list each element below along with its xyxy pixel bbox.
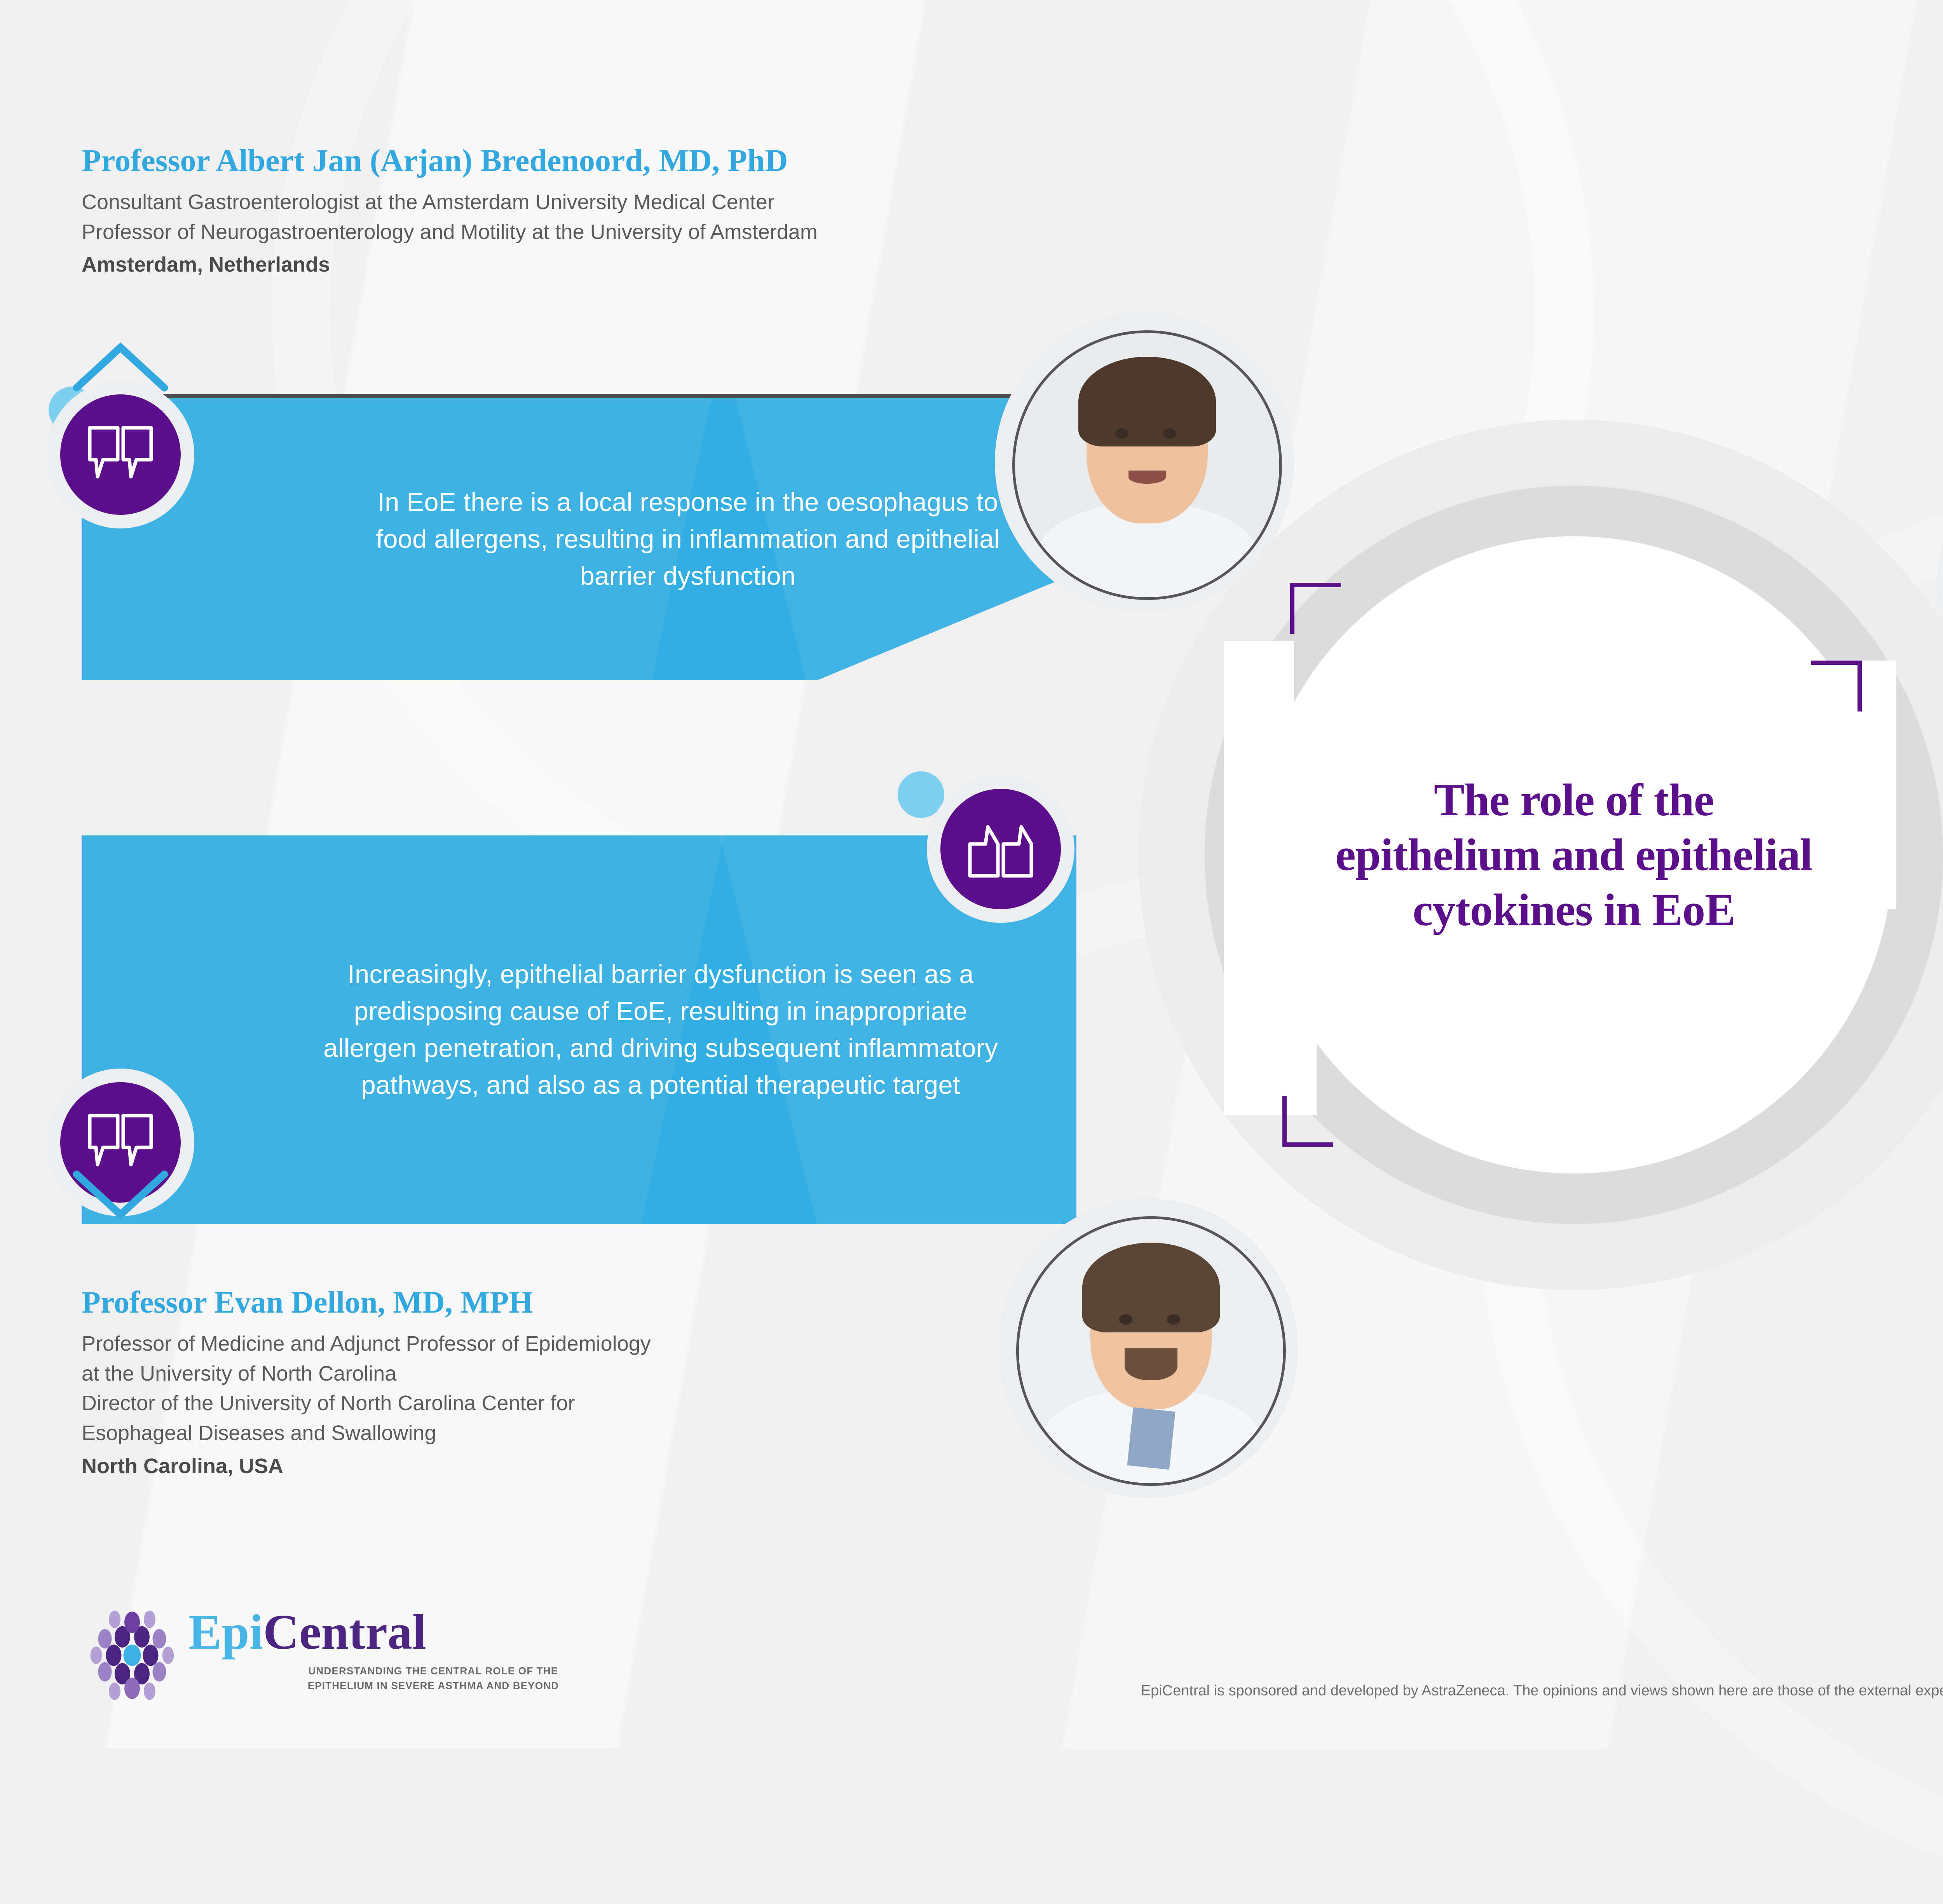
panel-top-rule-bredenoord xyxy=(82,394,1076,398)
expert-header-bredenoord: Professor Albert Jan (Arjan) Bredenoord,… xyxy=(82,144,1325,281)
epicentral-word-central: Central xyxy=(263,1604,426,1660)
infographic-canvas: The role of the epithelium and epithelia… xyxy=(0,0,1943,1749)
epicentral-word-epi: Epi xyxy=(188,1604,263,1660)
portrait-hair xyxy=(1082,1243,1220,1332)
quote-badge-2[interactable] xyxy=(940,789,1061,909)
epicentral-logo[interactable]: EpiCentral UNDERSTANDING THE CENTRAL ROL… xyxy=(84,1597,573,1714)
portrait-tie xyxy=(1127,1407,1175,1469)
bracket-bottom-left xyxy=(1282,1096,1333,1147)
hub-core: The role of the epithelium and epithelia… xyxy=(1255,536,1892,1173)
epicentral-tagline: UNDERSTANDING THE CENTRAL ROLE OF THE EP… xyxy=(297,1664,569,1693)
epicentral-wordmark: EpiCentral xyxy=(188,1607,426,1657)
footer-disclaimer: EpiCentral is sponsored and developed by… xyxy=(777,1683,1943,1699)
expert-affiliation-1: Consultant Gastroenterologist at the Ams… xyxy=(82,187,1325,217)
quote-text-bredenoord: In EoE there is a local response in the … xyxy=(136,484,1022,595)
hub-notch-left xyxy=(1224,641,1294,991)
portrait-art xyxy=(1019,1219,1283,1483)
hub-notch-bottom-left xyxy=(1224,952,1317,1115)
portrait-eye-right xyxy=(1167,1314,1180,1325)
portrait-beard xyxy=(1125,1348,1177,1380)
quote-bubbles-up-icon xyxy=(968,820,1034,878)
expert-name-bredenoord: Professor Albert Jan (Arjan) Bredenoord,… xyxy=(82,144,1325,177)
page-title: The role of the epithelium and epithelia… xyxy=(1329,772,1819,938)
bracket-top-right xyxy=(1811,661,1862,711)
quote-badge-1[interactable] xyxy=(60,394,181,515)
expert-affiliation-2: Professor of Neurogastroenterology and M… xyxy=(82,217,1325,247)
portrait-dellon xyxy=(1016,1216,1286,1486)
quote-bubbles-down-icon xyxy=(87,425,153,484)
bracket-top-left xyxy=(1290,583,1341,634)
portrait-eye-right xyxy=(1163,428,1176,439)
portrait-art xyxy=(1015,333,1279,597)
quote-text-dellon: Increasingly, epithelial barrier dysfunc… xyxy=(152,956,1006,1104)
portrait-mouth xyxy=(1128,471,1165,484)
quote-panel-dellon: Increasingly, epithelial barrier dysfunc… xyxy=(82,835,1076,1224)
portrait-hair xyxy=(1078,357,1216,446)
epicentral-dot-mark-icon xyxy=(84,1605,181,1706)
portrait-bredenoord xyxy=(1012,330,1282,600)
chevron-down-icon-3 xyxy=(72,1170,169,1220)
quote-bubbles-down-icon xyxy=(87,1113,153,1172)
expert-location-bredenoord: Amsterdam, Netherlands xyxy=(82,249,1325,281)
